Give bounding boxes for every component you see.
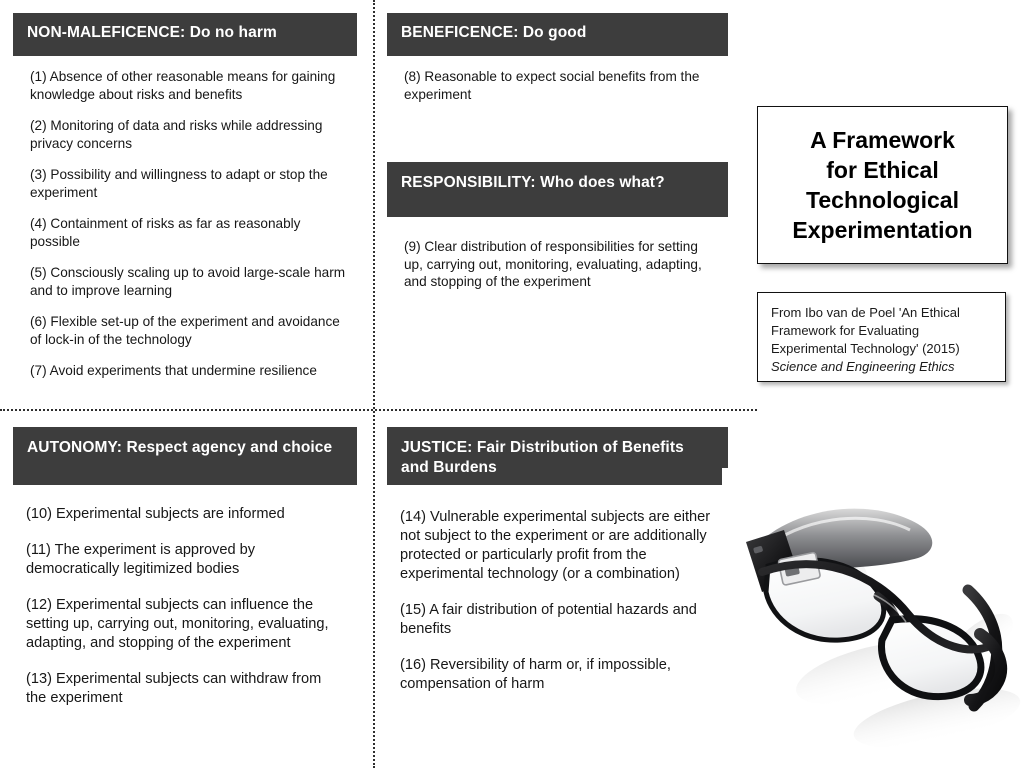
section-items-non-maleficence: (1) Absence of other reasonable means fo… — [30, 68, 348, 394]
smart-glasses-photo — [722, 468, 1024, 768]
vertical-dotted-divider — [373, 0, 375, 768]
citation-journal-title: Science and Engineering Ethics — [771, 359, 955, 374]
list-item: (4) Containment of risks as far as reaso… — [30, 215, 348, 250]
section-header-non-maleficence: NON-MALEFICENCE: Do no harm — [13, 13, 357, 56]
citation-card: From Ibo van de Poel 'An Ethical Framewo… — [757, 292, 1006, 382]
title-card: A Framework for Ethical Technological Ex… — [757, 106, 1008, 264]
list-item: (5) Consciously scaling up to avoid larg… — [30, 264, 348, 299]
page-title: A Framework for Ethical Technological Ex… — [792, 125, 972, 245]
list-item: (10) Experimental subjects are informed — [26, 505, 336, 524]
section-items-justice: (14) Vulnerable experimental subjects ar… — [400, 508, 718, 711]
section-header-beneficence: BENEFICENCE: Do good — [387, 13, 728, 56]
list-item: (3) Possibility and willingness to adapt… — [30, 166, 348, 201]
list-item: (12) Experimental subjects can influence… — [26, 596, 336, 653]
list-item: (6) Flexible set-up of the experiment an… — [30, 313, 348, 348]
list-item: (13) Experimental subjects can withdraw … — [26, 670, 336, 708]
list-item: (11) The experiment is approved by democ… — [26, 541, 336, 579]
section-items-beneficence: (8) Reasonable to expect social benefits… — [404, 68, 714, 117]
list-item: (14) Vulnerable experimental subjects ar… — [400, 508, 718, 584]
section-header-justice: JUSTICE: Fair Distribution of Benefits a… — [387, 427, 728, 485]
section-header-responsibility: RESPONSIBILITY: Who does what? — [387, 162, 728, 217]
citation-source-text: From Ibo van de Poel 'An Ethical Framewo… — [771, 305, 960, 356]
section-items-responsibility: (9) Clear distribution of responsibiliti… — [404, 238, 716, 305]
section-header-autonomy: AUTONOMY: Respect agency and choice — [13, 427, 357, 485]
list-item: (2) Monitoring of data and risks while a… — [30, 117, 348, 152]
list-item: (9) Clear distribution of responsibiliti… — [404, 238, 716, 291]
slide-canvas: NON-MALEFICENCE: Do no harm (1) Absence … — [0, 0, 1024, 768]
list-item: (15) A fair distribution of potential ha… — [400, 601, 718, 639]
list-item: (16) Reversibility of harm or, if imposs… — [400, 656, 718, 694]
list-item: (8) Reasonable to expect social benefits… — [404, 68, 714, 103]
section-items-autonomy: (10) Experimental subjects are informed … — [26, 505, 336, 725]
list-item: (1) Absence of other reasonable means fo… — [30, 68, 348, 103]
list-item: (7) Avoid experiments that undermine res… — [30, 362, 348, 380]
smart-glasses-illustration — [722, 468, 1024, 768]
horizontal-dotted-divider — [0, 409, 757, 411]
